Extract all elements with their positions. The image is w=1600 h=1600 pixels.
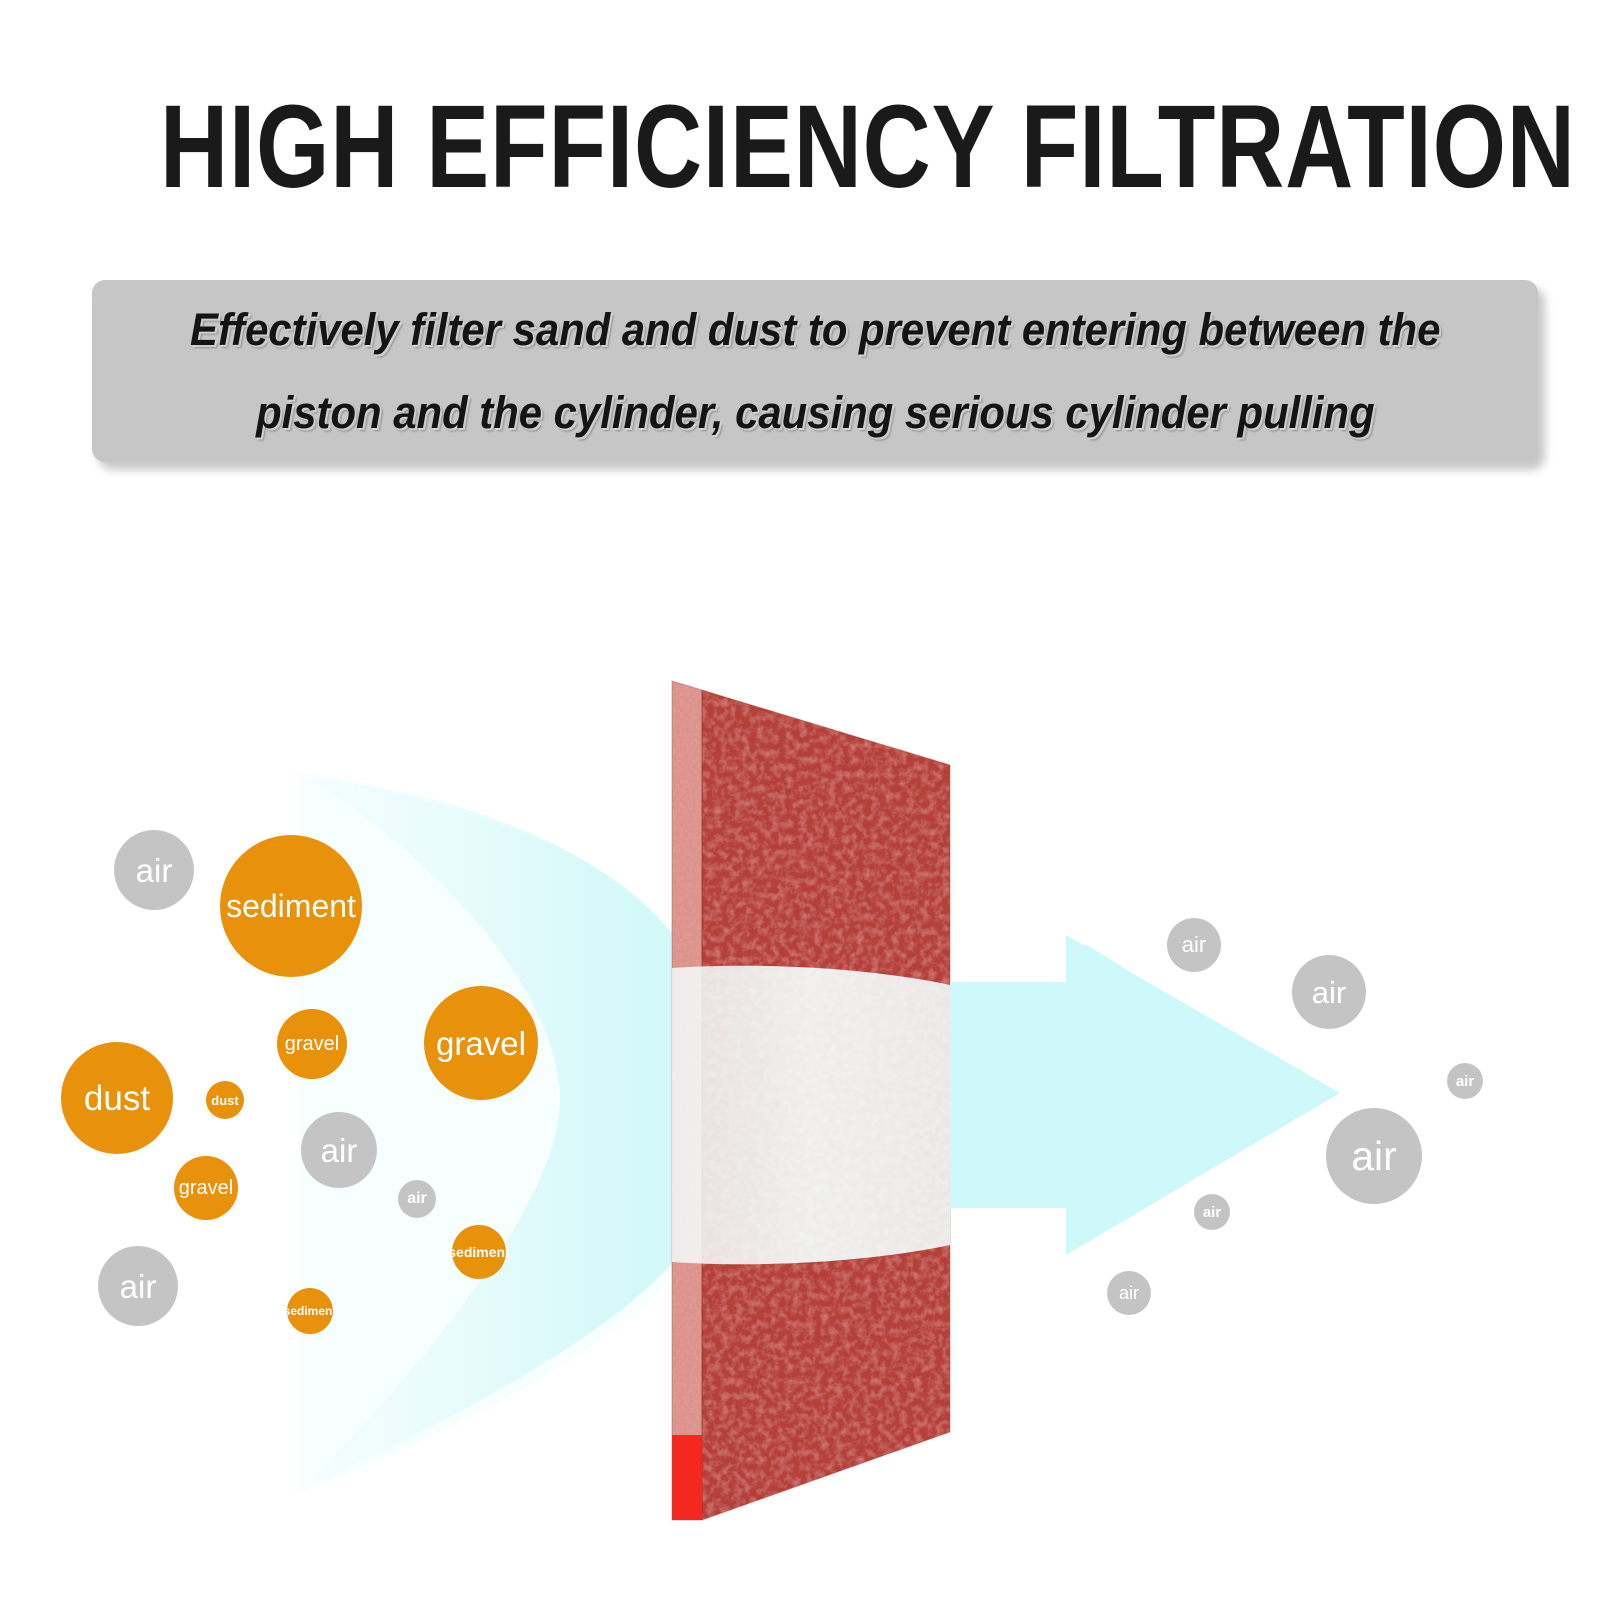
air-bubble-air-4: air [1194,1194,1230,1230]
filtration-diagram: airsedimentgravelgraveldustdustairgravel… [0,0,1600,1600]
airflow-through-filter-tint [672,966,950,1265]
particle-bubble-air-0: air [114,830,194,910]
air-bubble-air-0: air [1167,918,1221,972]
air-bubble-air-5: air [1107,1271,1151,1315]
particle-bubble-sediment-1: sediment [220,835,362,977]
filter-accent-strip [672,1435,702,1520]
particle-bubble-air-10: air [98,1246,178,1326]
particle-bubble-gravel-2: gravel [277,1009,347,1079]
particle-bubble-dust-4: dust [61,1042,173,1154]
particle-bubble-dust-5: dust [206,1081,244,1119]
particle-bubble-sediment-11: sediment [287,1288,333,1334]
particle-bubble-gravel-3: gravel [424,986,538,1100]
outlet-arrow-body [950,985,1072,1205]
air-bubble-air-1: air [1292,955,1366,1029]
particle-bubble-air-6: air [301,1112,377,1188]
diagram-svg [0,0,1600,1600]
particle-bubble-air-8: air [398,1180,436,1218]
particle-bubble-sediment-9: sediment [452,1225,506,1279]
particle-bubble-gravel-7: gravel [174,1156,238,1220]
infographic-page: HIGH EFFICIENCY FILTRATION Effectively f… [0,0,1600,1600]
air-bubble-air-3: air [1326,1108,1422,1204]
air-bubble-air-2: air [1447,1063,1483,1099]
